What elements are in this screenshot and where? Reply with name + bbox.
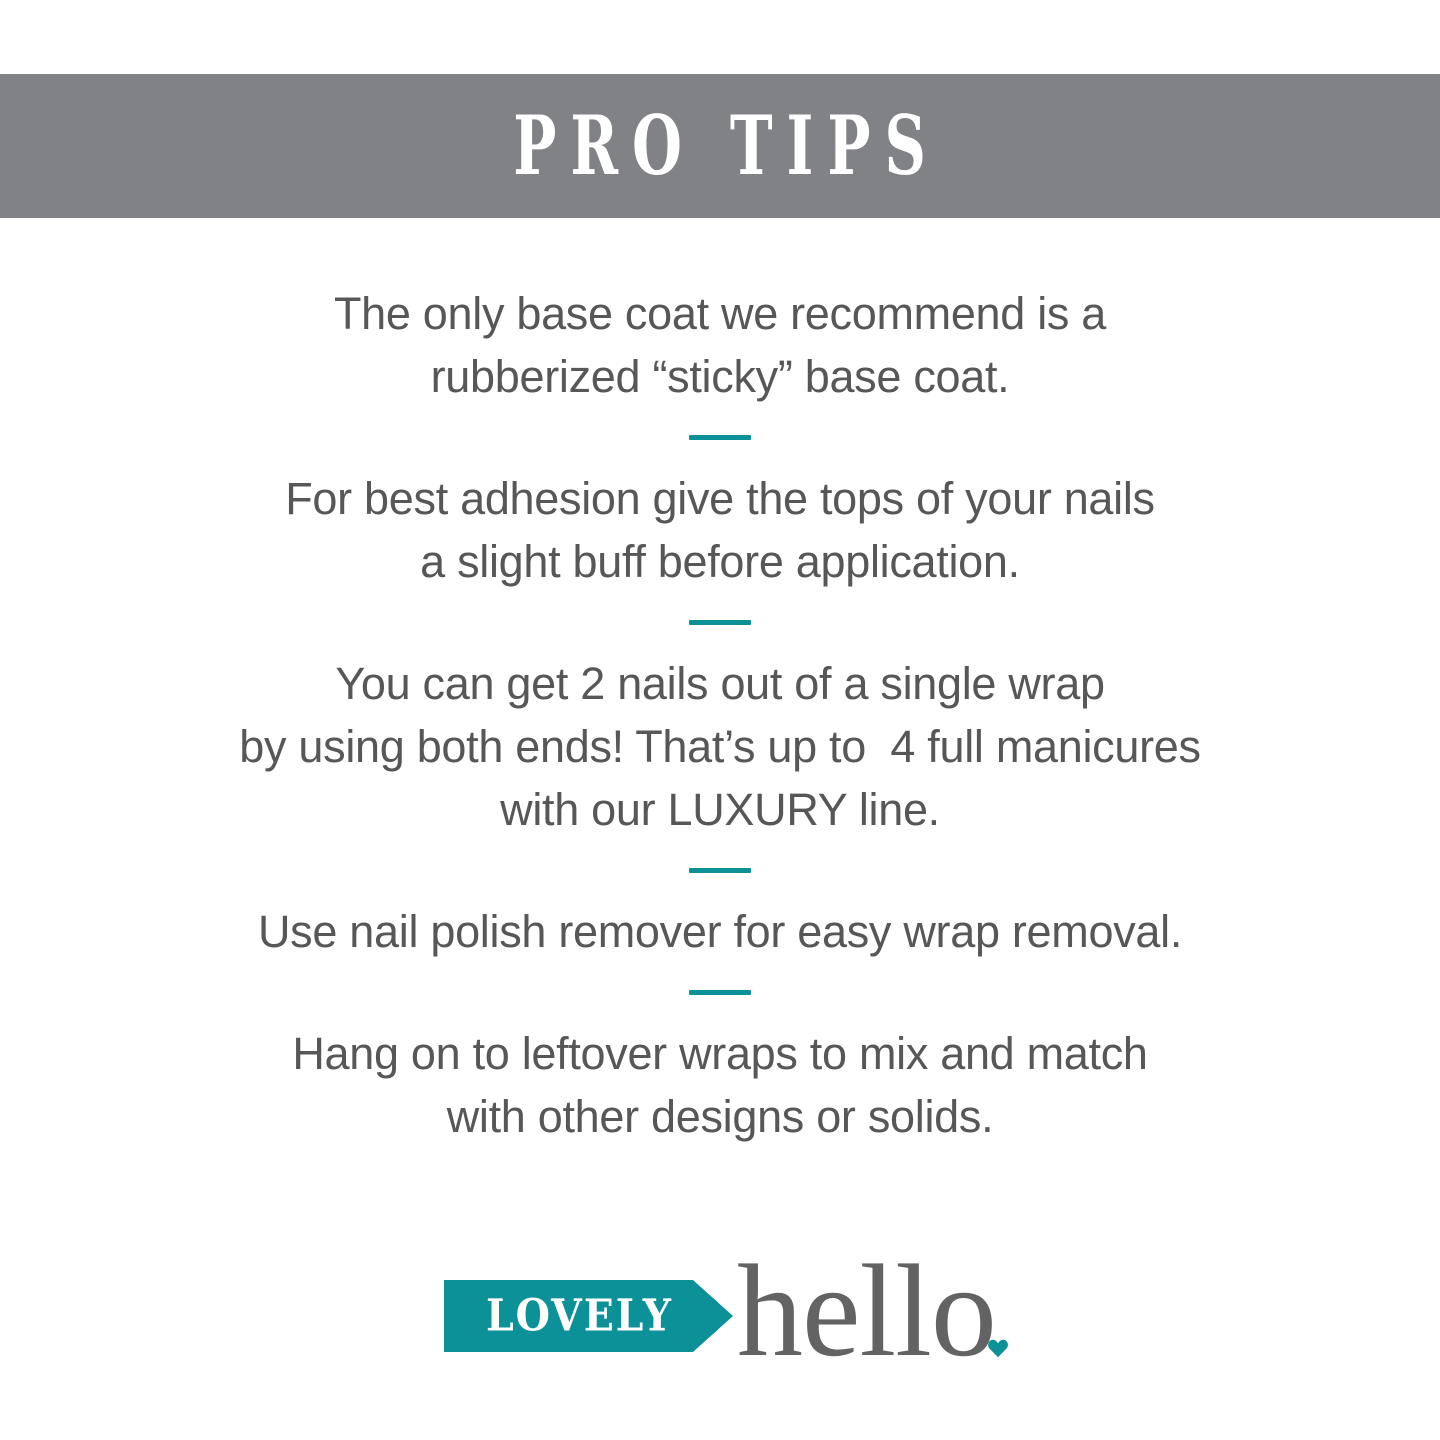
hello-wordmark-wrap: hello (737, 1254, 996, 1368)
tip-text: Hang on to leftover wraps to mix and mat… (0, 1022, 1440, 1148)
lovely-wordmark: LOVELY (486, 1294, 673, 1338)
hello-wordmark: hello (737, 1254, 996, 1368)
pro-tips-card: PRO TIPS The only base coat we recommend… (0, 0, 1440, 1440)
divider-line (689, 620, 751, 625)
brand-logo: LOVELY hello (0, 1248, 1440, 1368)
tip-divider (0, 868, 1440, 873)
divider-line (689, 868, 751, 873)
tip-text: You can get 2 nails out of a single wrap… (0, 652, 1440, 841)
heart-icon (986, 1336, 1010, 1360)
logo-inner: LOVELY hello (444, 1248, 996, 1368)
tip-divider (0, 435, 1440, 440)
page-title: PRO TIPS (500, 105, 940, 186)
tips-list: The only base coat we recommend is a rub… (0, 218, 1440, 1148)
lovely-flag-shape: LOVELY (444, 1280, 693, 1352)
divider-line (689, 990, 751, 995)
divider-line (689, 435, 751, 440)
tip-text: Use nail polish remover for easy wrap re… (0, 900, 1440, 963)
tip-divider (0, 990, 1440, 995)
tip-text: The only base coat we recommend is a rub… (0, 282, 1440, 408)
tip-text: For best adhesion give the tops of your … (0, 467, 1440, 593)
header-banner: PRO TIPS (0, 74, 1440, 218)
tip-divider (0, 620, 1440, 625)
